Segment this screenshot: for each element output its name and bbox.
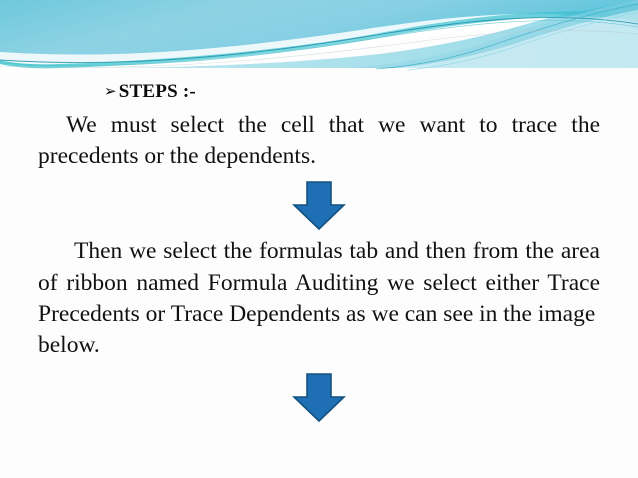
decorative-wave-banner — [0, 0, 638, 72]
bullet-arrow-icon: ➢ — [104, 84, 117, 101]
paragraph-2: Then we select the formulas tab and then… — [0, 236, 638, 330]
steps-heading-label: STEPS :- — [119, 81, 196, 102]
steps-heading: ➢STEPS :- — [0, 82, 638, 103]
paragraph-2-tail: below. — [0, 330, 638, 361]
slide-canvas: ➢STEPS :- We must select the cell that w… — [0, 0, 638, 478]
arrow-down-1 — [0, 181, 638, 236]
paragraph-1: We must select the cell that we want to … — [0, 110, 638, 173]
slide-body: ➢STEPS :- We must select the cell that w… — [0, 72, 638, 428]
arrow-down-2 — [0, 373, 638, 428]
